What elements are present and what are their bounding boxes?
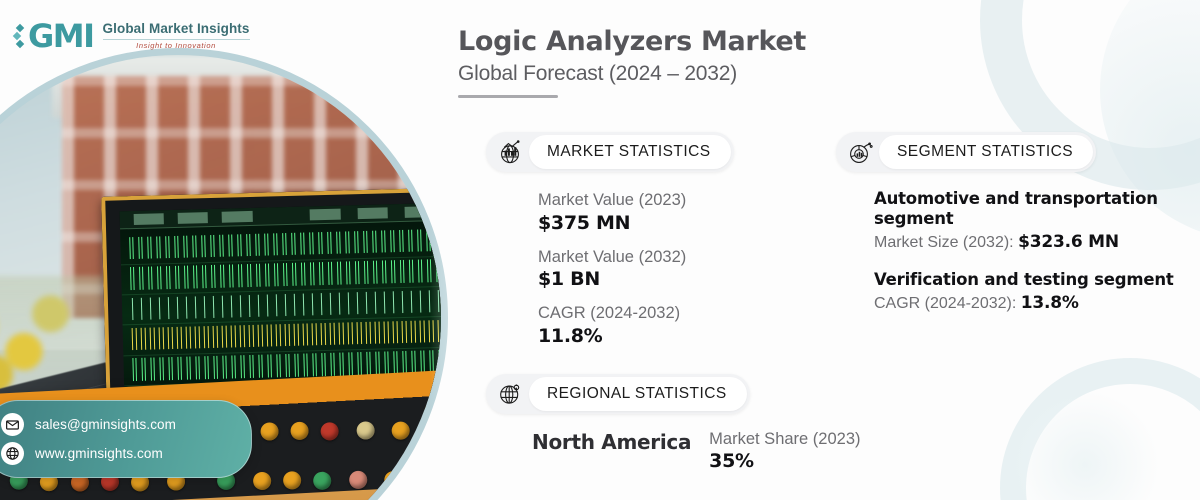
- brand-name: Global Market Insights: [103, 22, 250, 36]
- segment-statistics-list: Automotive and transportation segment Ma…: [836, 189, 1184, 313]
- region-share-label: Market Share (2023): [709, 430, 860, 449]
- brand-tagline: Insight to Innovation: [103, 42, 250, 50]
- segment-metric: Market Size (2032): $323.6 MN: [874, 232, 1184, 252]
- globe-pin-icon: [491, 377, 529, 411]
- diamond-icon: [14, 24, 27, 48]
- gmi-logomark: GMI: [14, 20, 94, 52]
- market-statistics-panel: MARKET STATISTICS Market Value (2023) $3…: [486, 132, 734, 360]
- segment-metric: CAGR (2024-2032): 13.8%: [874, 293, 1184, 313]
- region-name: North America: [532, 430, 691, 454]
- segment-metric-value: $323.6 MN: [1018, 232, 1119, 252]
- contact-website: www.gminsights.com: [35, 446, 163, 461]
- contact-email-row[interactable]: sales@gminsights.com: [1, 410, 237, 439]
- regional-statistics-badge[interactable]: REGIONAL STATISTICS: [486, 374, 750, 414]
- segment-metric-label: Market Size (2032):: [874, 234, 1018, 251]
- infographic-canvas: GMI Global Market Insights Insight to In…: [0, 0, 1200, 500]
- market-stat-value: $1 BN: [538, 268, 734, 290]
- title-underline: [458, 95, 558, 98]
- region-share-value: 35%: [709, 450, 860, 472]
- regional-statistics-body: North America Market Share (2023) 35%: [486, 430, 861, 472]
- market-stat-label: Market Value (2023): [538, 190, 734, 211]
- market-stat-label: Market Value (2032): [538, 247, 734, 268]
- decor-bottom-right-glow: [1010, 390, 1160, 500]
- regional-statistics-panel: REGIONAL STATISTICS North America Market…: [486, 374, 861, 472]
- photo-waveform-display: [120, 203, 441, 402]
- decor-bottom-right-ring: [1000, 358, 1200, 500]
- page-title-block: Logic Analyzers Market Global Forecast (…: [458, 26, 806, 98]
- contact-email: sales@gminsights.com: [35, 417, 176, 432]
- brand-lockup: Global Market Insights Insight to Innova…: [103, 22, 250, 49]
- segment-metric-label: CAGR (2024-2032):: [874, 295, 1021, 312]
- segment-name: Automotive and transportation segment: [874, 189, 1184, 229]
- market-stat-label: CAGR (2024-2032): [538, 303, 734, 324]
- segment-item: Verification and testing segment CAGR (2…: [874, 270, 1184, 313]
- market-stat-item: Market Value (2023) $375 MN: [538, 190, 734, 234]
- segment-metric-value: 13.8%: [1021, 293, 1079, 313]
- market-statistics-label: MARKET STATISTICS: [529, 135, 731, 169]
- page-title: Logic Analyzers Market: [458, 26, 806, 58]
- pie-analysis-icon: [841, 135, 879, 169]
- market-stat-value: 11.8%: [538, 325, 734, 347]
- brand-logo[interactable]: GMI Global Market Insights Insight to In…: [14, 20, 250, 52]
- envelope-icon: [1, 413, 24, 436]
- contact-pill: sales@gminsights.com www.gminsights.com: [0, 400, 252, 478]
- segment-statistics-label: SEGMENT STATISTICS: [879, 135, 1093, 169]
- market-stat-value: $375 MN: [538, 212, 734, 234]
- regional-statistics-label: REGIONAL STATISTICS: [529, 377, 747, 411]
- segment-item: Automotive and transportation segment Ma…: [874, 189, 1184, 252]
- market-stat-item: Market Value (2032) $1 BN: [538, 247, 734, 291]
- region-share-block: Market Share (2023) 35%: [709, 430, 860, 472]
- market-statistics-list: Market Value (2023) $375 MN Market Value…: [486, 190, 734, 347]
- brand-divider: [103, 39, 250, 40]
- globe-icon: [1, 442, 24, 465]
- segment-name: Verification and testing segment: [874, 270, 1184, 290]
- segment-statistics-badge[interactable]: SEGMENT STATISTICS: [836, 132, 1096, 172]
- page-subtitle: Global Forecast (2024 – 2032): [458, 62, 806, 86]
- segment-statistics-panel: SEGMENT STATISTICS Automotive and transp…: [836, 132, 1184, 331]
- globe-chart-icon: [491, 135, 529, 169]
- contact-website-row[interactable]: www.gminsights.com: [1, 439, 237, 468]
- market-statistics-badge[interactable]: MARKET STATISTICS: [486, 132, 734, 172]
- market-stat-item: CAGR (2024-2032) 11.8%: [538, 303, 734, 347]
- gmi-logomark-text: GMI: [28, 20, 94, 52]
